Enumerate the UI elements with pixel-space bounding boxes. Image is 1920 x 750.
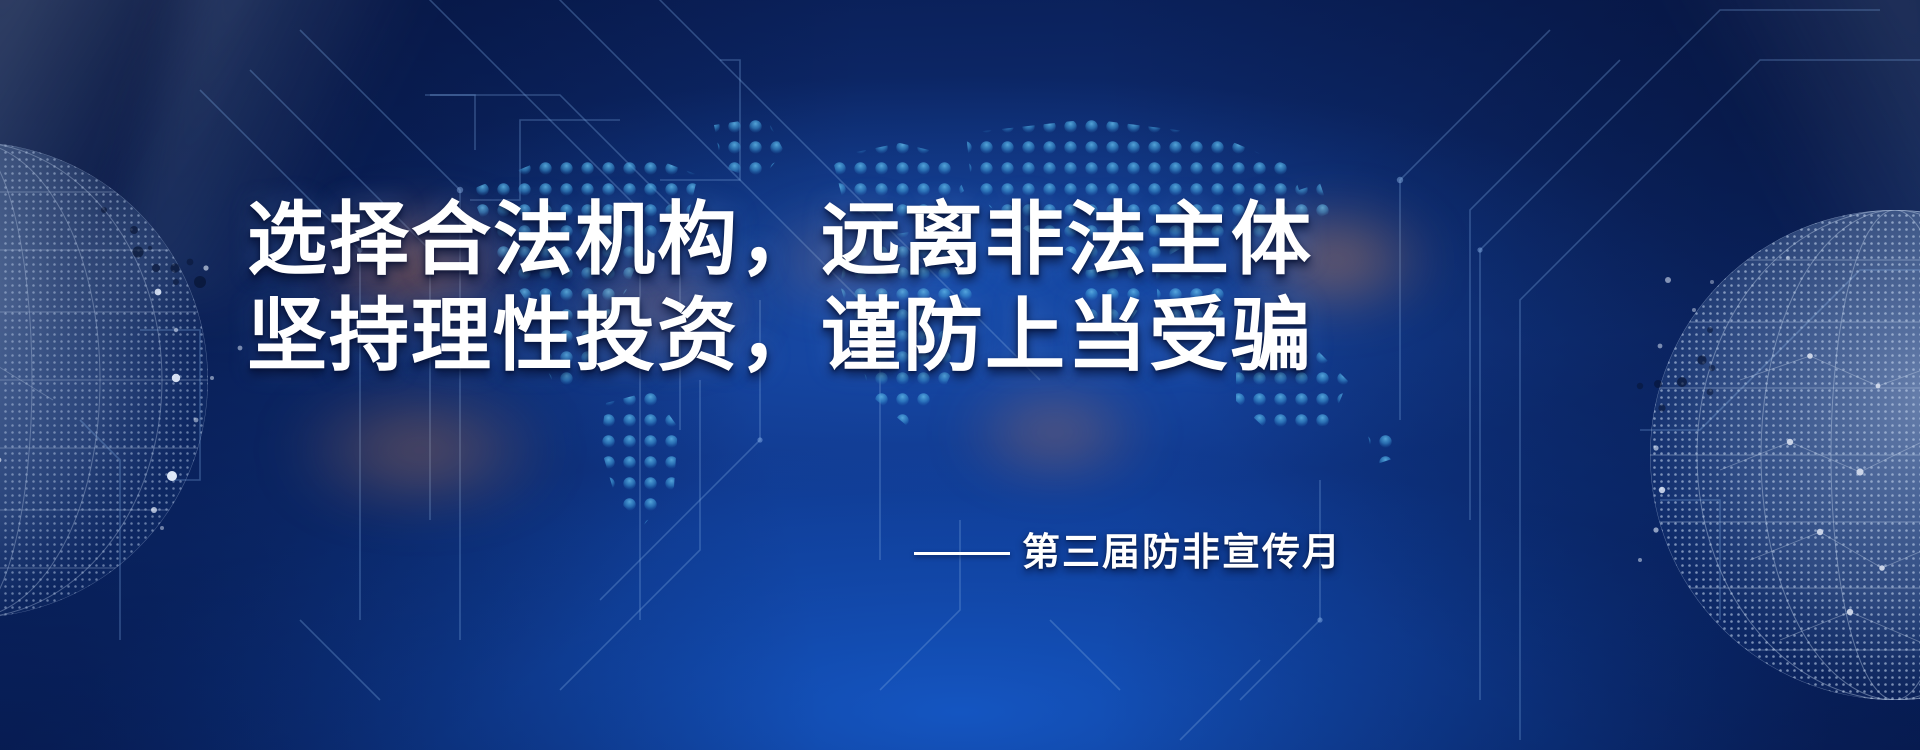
headline: 选择合法机构，远离非法主体 坚持理性投资，谨防上当受骗 [0, 192, 1560, 384]
promo-banner: 选择合法机构，远离非法主体 坚持理性投资，谨防上当受骗 第三届防非宣传月 [0, 0, 1920, 750]
attribution: 第三届防非宣传月 [0, 530, 1560, 576]
banner-content: 选择合法机构，远离非法主体 坚持理性投资，谨防上当受骗 第三届防非宣传月 [0, 0, 1920, 750]
headline-line-2: 坚持理性投资，谨防上当受骗 [0, 288, 1560, 384]
headline-line-1: 选择合法机构，远离非法主体 [0, 192, 1560, 288]
attribution-text: 第三届防非宣传月 [1022, 530, 1342, 576]
attribution-dash-rule [914, 552, 1010, 555]
